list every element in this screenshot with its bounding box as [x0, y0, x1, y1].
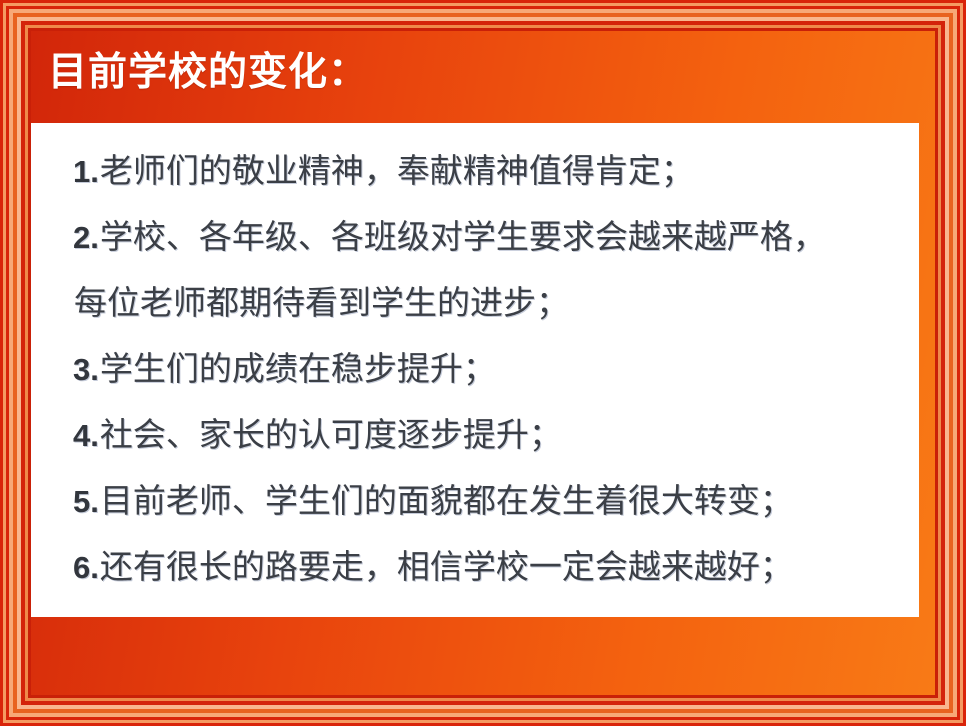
list-item-text: 老师们的敬业精神，奉献精神值得肯定；: [100, 154, 694, 190]
list-item-number: 4.: [73, 418, 99, 453]
list-item-text: 还有很长的路要走，相信学校一定会越来越好；: [100, 550, 793, 586]
list-item-number: 6.: [73, 550, 99, 585]
slide-title: 目前学校的变化：: [48, 45, 368, 101]
list-item: 3.学生们的成绩在稳步提升；: [73, 337, 909, 403]
list-item-text: 每位老师都期待看到学生的进步；: [74, 286, 569, 322]
list-item-text: 学校、各年级、各班级对学生要求会越来越严格，: [100, 220, 826, 256]
list-item: 4.社会、家长的认可度逐步提升；: [73, 403, 909, 469]
list-item-number: 1.: [73, 154, 99, 189]
list-item: 1.老师们的敬业精神，奉献精神值得肯定；: [73, 139, 909, 205]
slide-title-band: 目前学校的变化：: [31, 31, 935, 123]
list-item: 6.还有很长的路要走，相信学校一定会越来越好；: [73, 535, 909, 601]
presentation-slide: 目前学校的变化： 1.老师们的敬业精神，奉献精神值得肯定； 2.学校、各年级、各…: [0, 0, 966, 726]
content-panel: 1.老师们的敬业精神，奉献精神值得肯定； 2.学校、各年级、各班级对学生要求会越…: [31, 123, 919, 617]
list-item: 5.目前老师、学生们的面貌都在发生着很大转变；: [73, 469, 909, 535]
slide-canvas: 目前学校的变化： 1.老师们的敬业精神，奉献精神值得肯定； 2.学校、各年级、各…: [31, 31, 935, 695]
list-item: 2.学校、各年级、各班级对学生要求会越来越严格，: [73, 205, 909, 271]
list-item-number: 5.: [73, 484, 99, 519]
list-item-text: 社会、家长的认可度逐步提升；: [100, 418, 562, 454]
list-item-continuation: 每位老师都期待看到学生的进步；: [73, 271, 909, 337]
list-item-text: 目前老师、学生们的面貌都在发生着很大转变；: [100, 484, 793, 520]
content-list: 1.老师们的敬业精神，奉献精神值得肯定； 2.学校、各年级、各班级对学生要求会越…: [73, 139, 909, 613]
list-item-text: 学生们的成绩在稳步提升；: [100, 352, 496, 388]
list-item-number: 3.: [73, 352, 99, 387]
list-item-number: 2.: [73, 220, 99, 255]
